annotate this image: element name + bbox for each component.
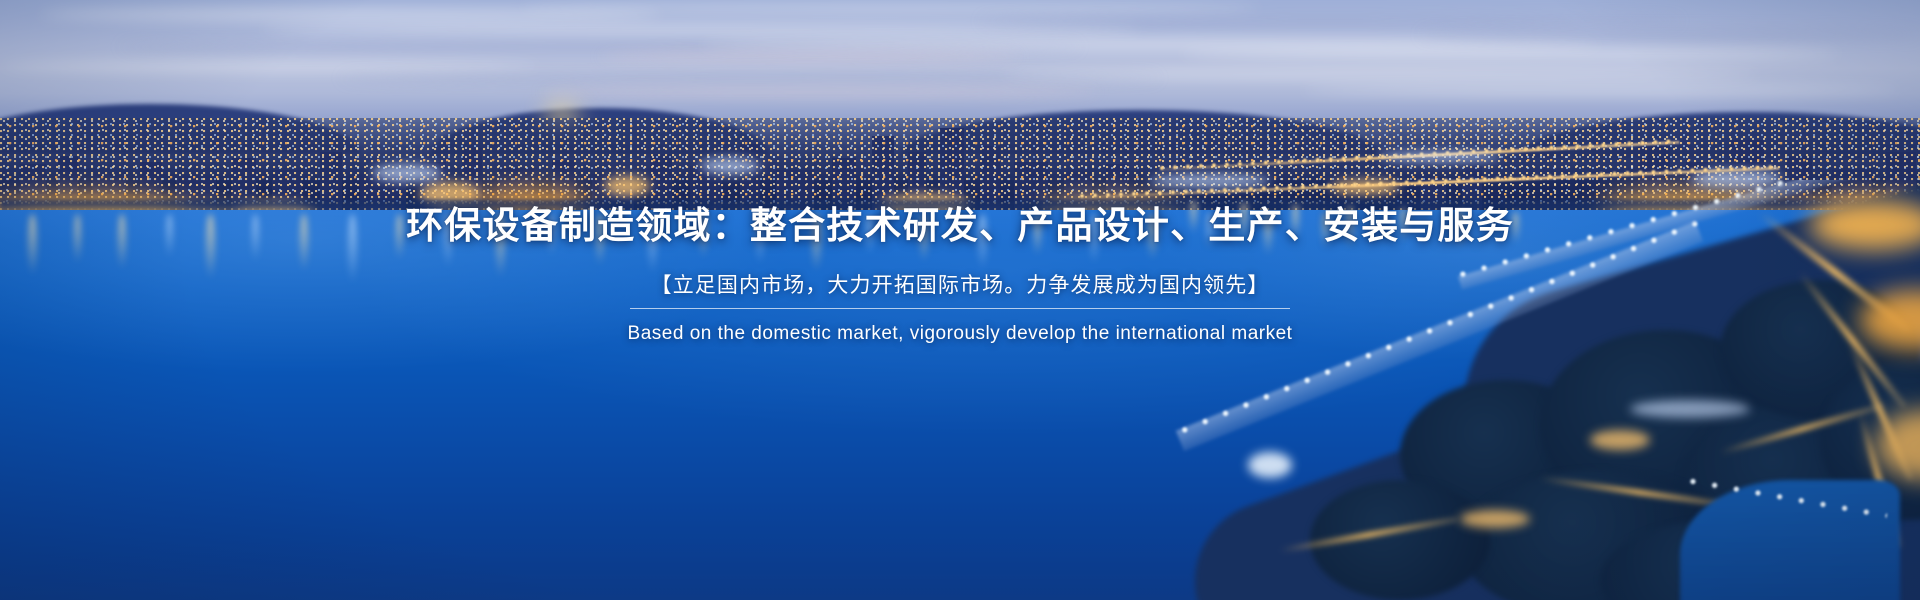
waterfront-park	[1160, 180, 1920, 600]
hero-banner: 环保设备制造领域：整合技术研发、产品设计、生产、安装与服务 【立足国内市场，大力…	[0, 0, 1920, 600]
